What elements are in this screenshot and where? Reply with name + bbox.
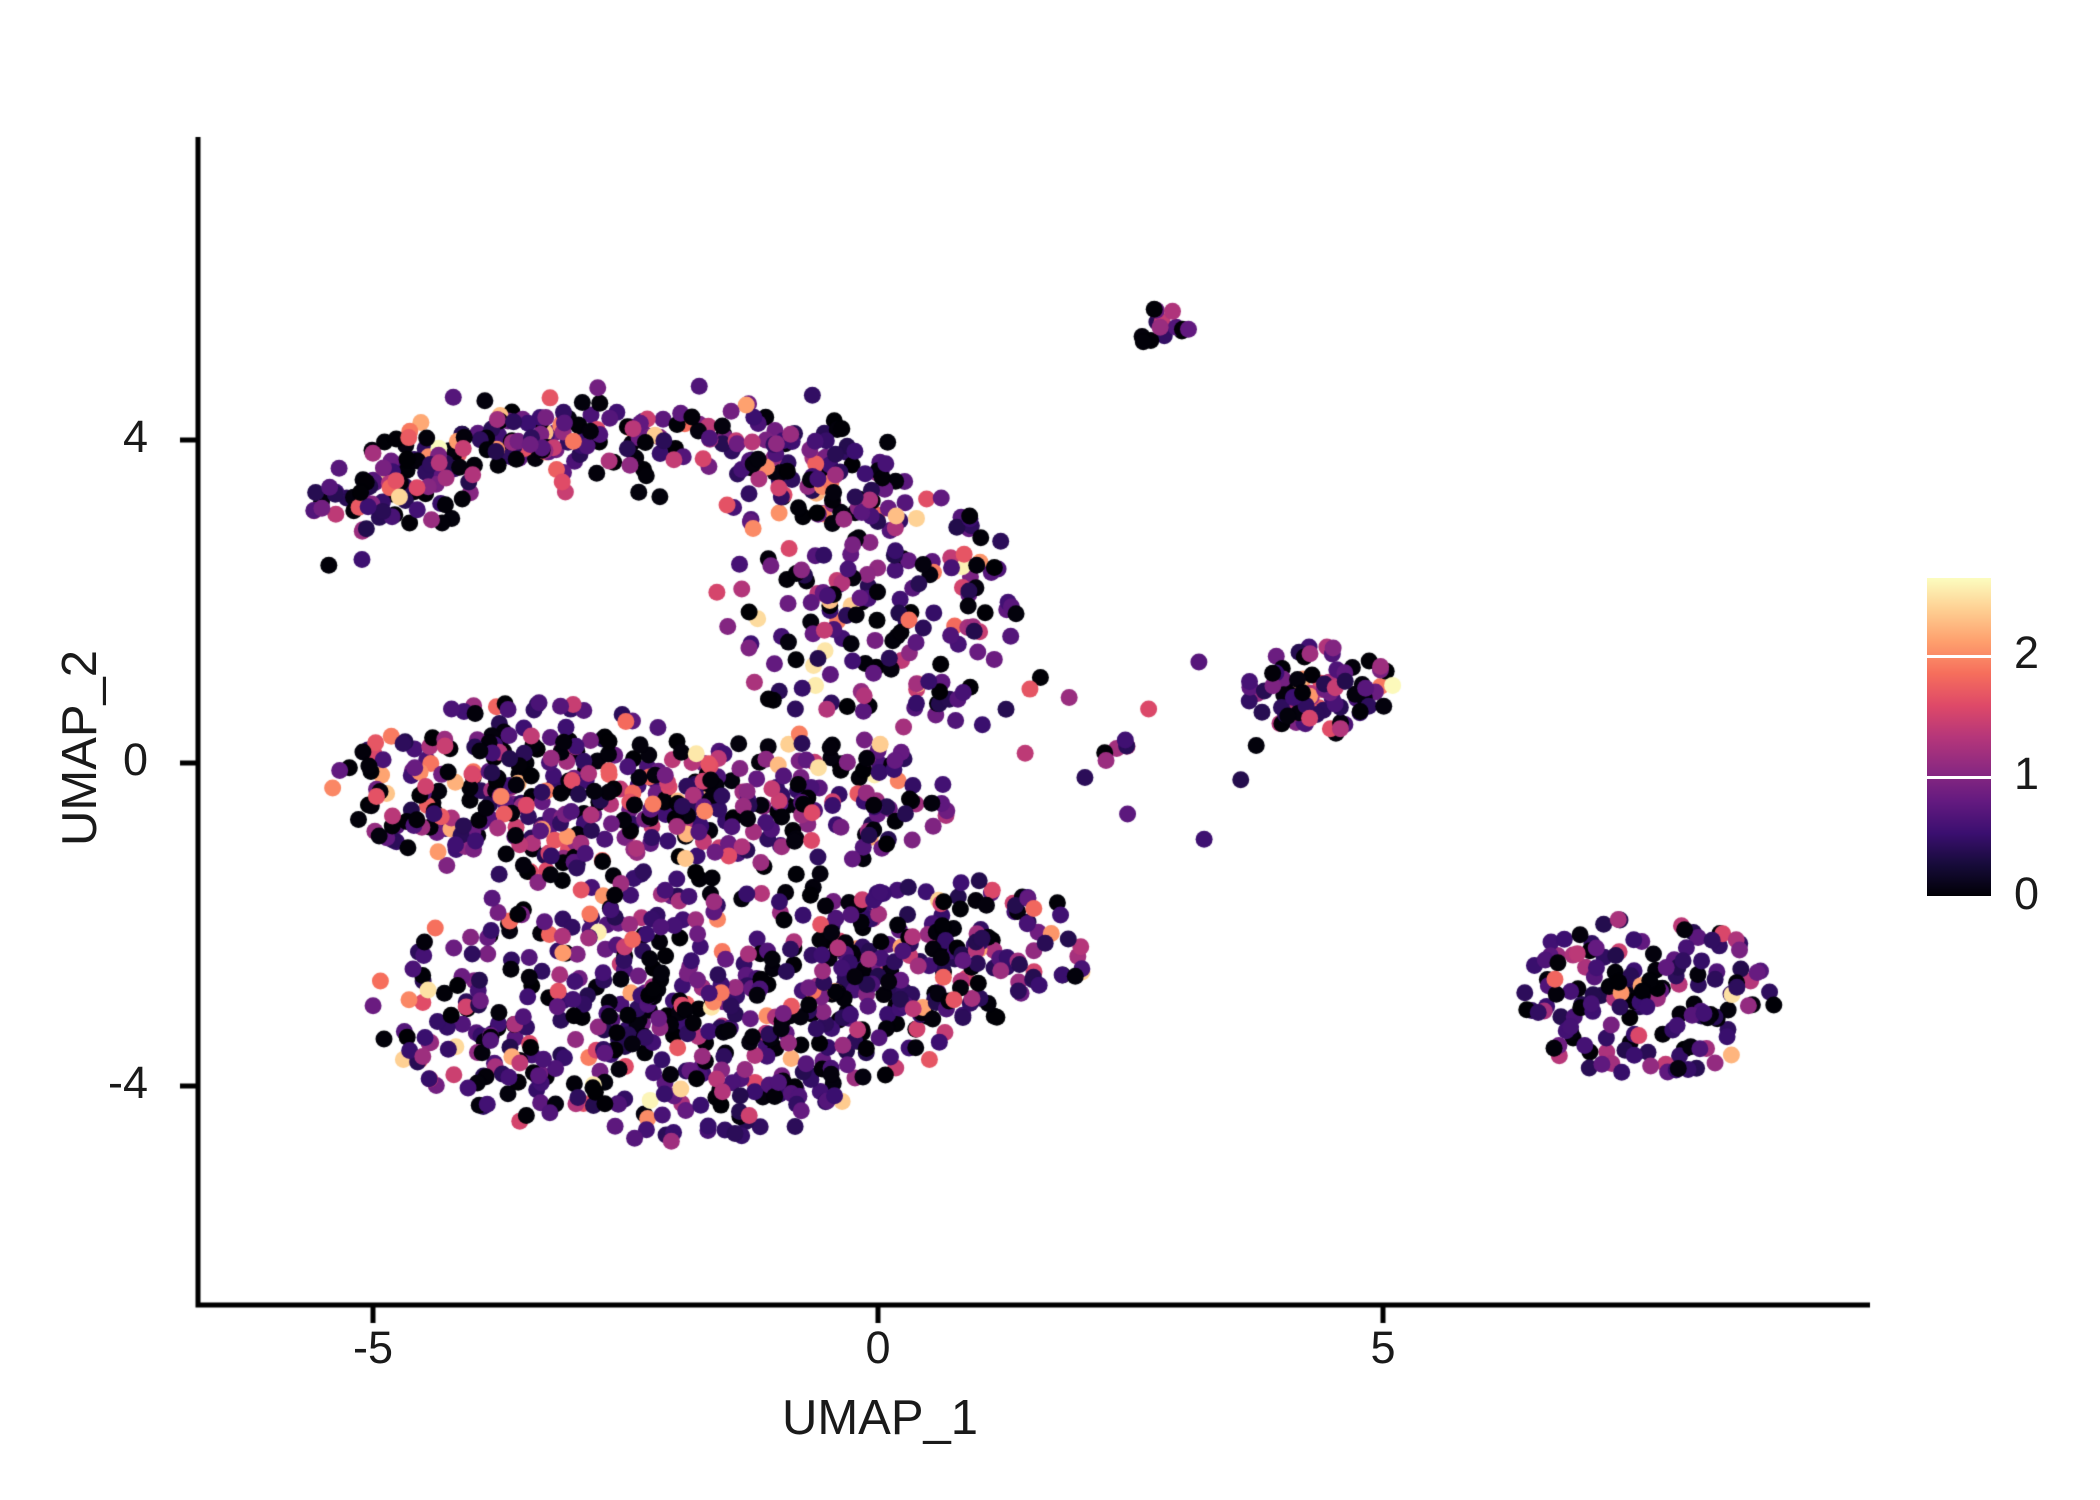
y-tick-label: 4	[28, 411, 148, 463]
feature-plot-figure: ENSSSCG00000024696 UMAP_1 UMAP_2 -505 -4…	[0, 0, 2100, 1500]
scatter-plot-canvas	[0, 0, 2100, 1500]
colorbar-tick-label: 1	[2014, 748, 2100, 800]
colorbar-tick-label: 0	[2014, 868, 2100, 920]
colorbar-tick-label: 2	[2014, 627, 2100, 679]
colorbar-tick-mark	[1927, 896, 1991, 899]
y-tick-label: -4	[28, 1057, 148, 1109]
x-axis-title: UMAP_1	[620, 1390, 1140, 1446]
colorbar-tick-mark	[1927, 776, 1991, 779]
colorbar-tick-mark	[1927, 655, 1991, 658]
y-tick-label: 0	[28, 734, 148, 786]
x-tick-label: 5	[1323, 1322, 1443, 1374]
colorbar-gradient	[1927, 578, 1991, 897]
x-tick-label: 0	[818, 1322, 938, 1374]
x-tick-label: -5	[313, 1322, 433, 1374]
